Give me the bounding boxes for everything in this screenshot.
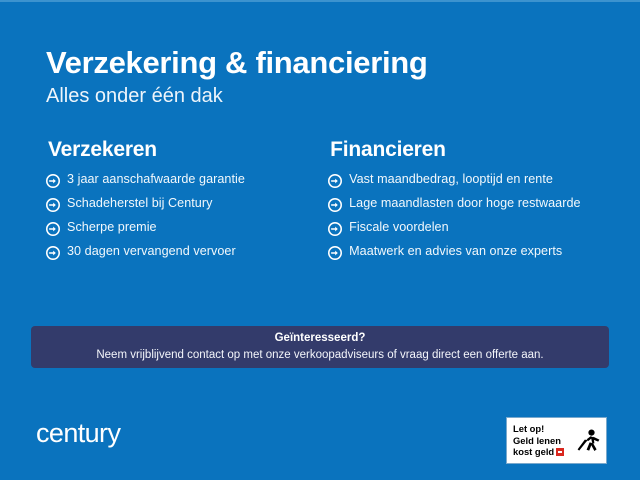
feature-list-verzekeren: 3 jaar aanschafwaarde garantie Schadeher… — [46, 172, 290, 260]
list-item: Fiscale voordelen — [328, 220, 606, 236]
list-item-label: Vast maandbedrag, looptijd en rente — [349, 172, 553, 188]
feature-list-financieren: Vast maandbedrag, looptijd en rente Lage… — [328, 172, 606, 260]
afm-logo-icon — [556, 448, 564, 456]
list-item: Lage maandlasten door hoge restwaarde — [328, 196, 606, 212]
cta-title: Geïnteresseerd? — [275, 331, 366, 347]
list-item-label: 30 dagen vervangend vervoer — [67, 244, 236, 260]
feature-columns: Verzekeren 3 jaar aanschafwaarde garanti… — [46, 138, 606, 268]
arrow-circle-right-icon — [328, 198, 342, 212]
list-item: Scherpe premie — [46, 220, 290, 236]
list-item-label: 3 jaar aanschafwaarde garantie — [67, 172, 245, 188]
list-item-label: Fiscale voordelen — [349, 220, 449, 236]
list-item-label: Scherpe premie — [67, 220, 157, 236]
list-item: Maatwerk en advies van onze experts — [328, 244, 606, 260]
arrow-circle-right-icon — [46, 246, 60, 260]
warning-line-3-row: kost geld — [513, 446, 564, 457]
list-item-label: Schadeherstel bij Century — [67, 196, 212, 212]
walking-person-icon — [575, 428, 601, 458]
arrow-circle-right-icon — [46, 174, 60, 188]
brand-logo: century — [36, 420, 120, 447]
arrow-circle-right-icon — [328, 174, 342, 188]
header: Verzekering & financiering Alles onder é… — [46, 46, 428, 108]
warning-text-block: Let op! Geld lenen kost geld — [513, 423, 564, 457]
column-heading-verzekeren: Verzekeren — [48, 138, 290, 162]
warning-line-2: Geld lenen — [513, 435, 564, 446]
list-item-label: Lage maandlasten door hoge restwaarde — [349, 196, 581, 212]
list-item: Vast maandbedrag, looptijd en rente — [328, 172, 606, 188]
list-item-label: Maatwerk en advies van onze experts — [349, 244, 562, 260]
column-financieren: Financieren Vast maandbedrag, looptijd e… — [328, 138, 606, 268]
page-subtitle: Alles onder één dak — [46, 84, 428, 108]
credit-warning-badge: Let op! Geld lenen kost geld — [506, 417, 607, 464]
list-item: 3 jaar aanschafwaarde garantie — [46, 172, 290, 188]
warning-line-3: kost geld — [513, 446, 554, 457]
cta-banner: Geïnteresseerd? Neem vrijblijvend contac… — [31, 326, 609, 368]
slide-root: Verzekering & financiering Alles onder é… — [0, 0, 640, 480]
column-heading-financieren: Financieren — [330, 138, 606, 162]
list-item: Schadeherstel bij Century — [46, 196, 290, 212]
column-verzekeren: Verzekeren 3 jaar aanschafwaarde garanti… — [46, 138, 290, 268]
arrow-circle-right-icon — [328, 246, 342, 260]
arrow-circle-right-icon — [328, 222, 342, 236]
arrow-circle-right-icon — [46, 222, 60, 236]
page-title: Verzekering & financiering — [46, 46, 428, 81]
list-item: 30 dagen vervangend vervoer — [46, 244, 290, 260]
cta-body: Neem vrijblijvend contact op met onze ve… — [96, 348, 543, 364]
arrow-circle-right-icon — [46, 198, 60, 212]
warning-line-1: Let op! — [513, 423, 564, 434]
